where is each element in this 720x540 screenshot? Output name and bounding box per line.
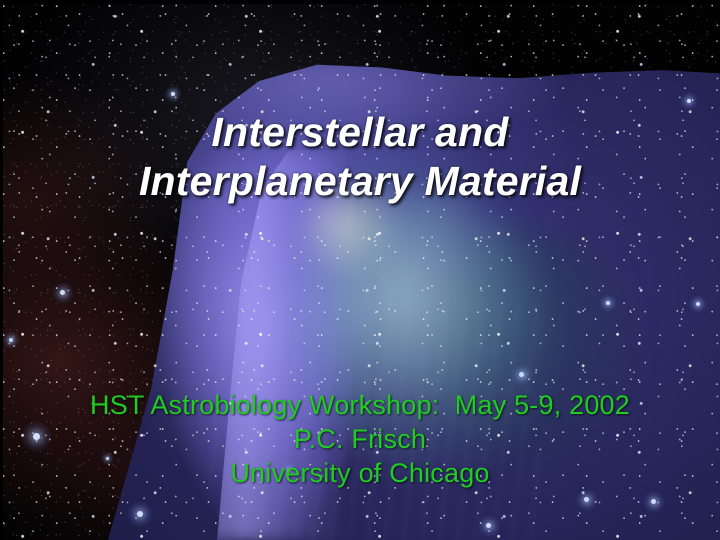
- title-slide: Interstellar and Interplanetary Material…: [0, 0, 720, 540]
- star-layer-mid: [0, 0, 720, 540]
- left-black-trim: [0, 0, 3, 540]
- top-black-trim: [0, 0, 720, 4]
